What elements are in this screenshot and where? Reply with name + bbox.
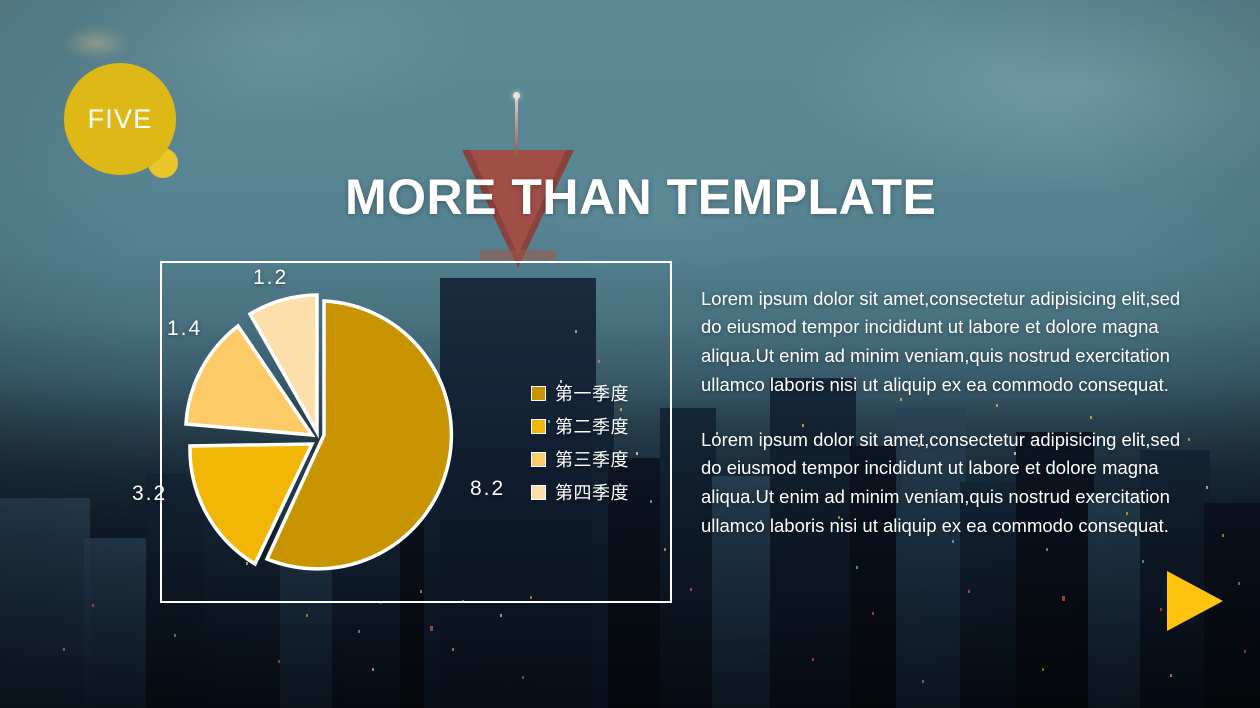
page-title: MORE THAN TEMPLATE [345,168,936,226]
legend-item-label: 第一季度 [555,380,629,406]
legend-item-q2[interactable]: 第二季度 [531,413,629,439]
chart-legend: 第一季度 第二季度 第三季度 第四季度 [531,380,629,505]
pie-value-label-q1: 8.2 [470,477,505,501]
body-paragraph-2: Lorem ipsum dolor sit amet,consectetur a… [701,426,1201,541]
legend-item-q3[interactable]: 第三季度 [531,446,629,472]
presentation-slide: FIVE MORE THAN TEMPLATE 1.2 1.4 3.2 8.2 [0,0,1260,708]
pie-value-label-q4: 1.2 [253,266,288,290]
legend-item-label: 第四季度 [555,479,629,505]
legend-swatch-icon [531,485,546,500]
body-paragraph-1: Lorem ipsum dolor sit amet,consectetur a… [701,285,1201,400]
next-slide-arrow-icon[interactable] [1167,571,1223,631]
legend-swatch-icon [531,419,546,434]
legend-item-q4[interactable]: 第四季度 [531,479,629,505]
body-text-column: Lorem ipsum dolor sit amet,consectetur a… [701,266,1201,559]
badge-circle: FIVE [64,63,176,175]
pie-value-label-q2: 3.2 [132,482,167,506]
legend-item-q1[interactable]: 第一季度 [531,380,629,406]
legend-swatch-icon [531,452,546,467]
badge-label: FIVE [88,104,153,135]
pie-value-label-q3: 1.4 [167,317,202,341]
legend-swatch-icon [531,386,546,401]
legend-item-label: 第二季度 [555,413,629,439]
legend-item-label: 第三季度 [555,446,629,472]
